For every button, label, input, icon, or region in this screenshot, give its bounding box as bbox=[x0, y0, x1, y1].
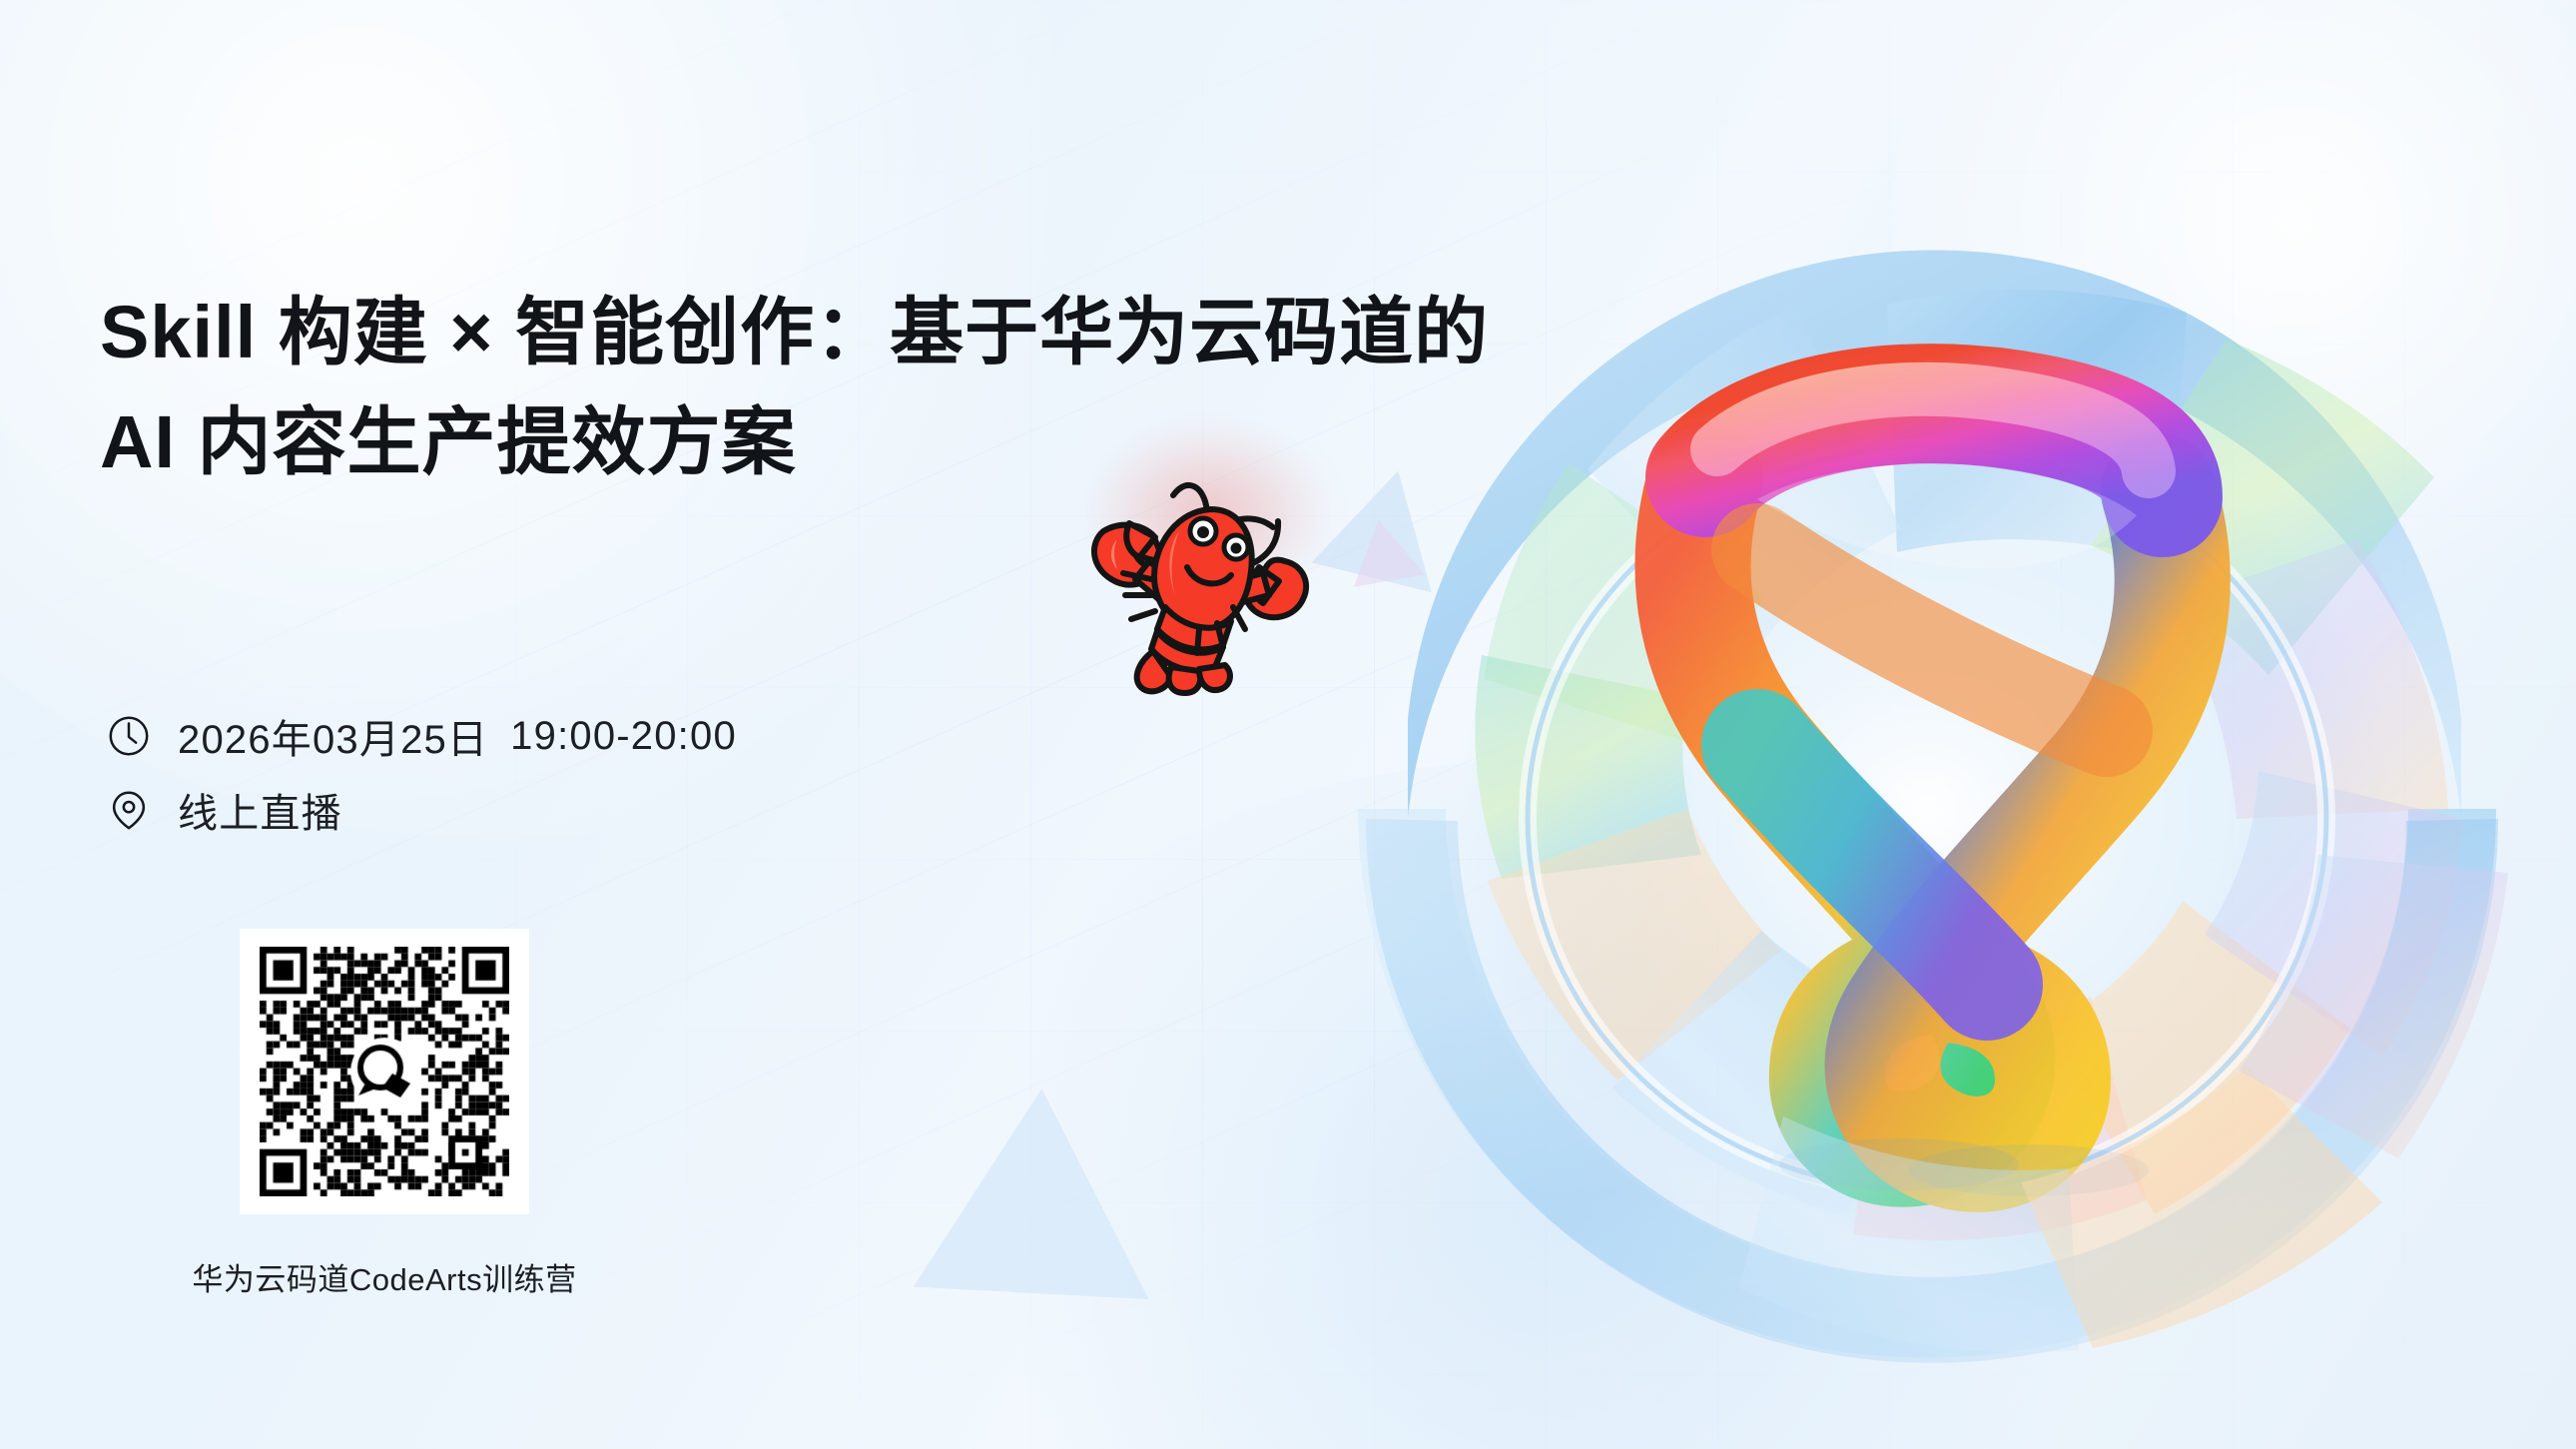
page-title: Skill 构建 × 智能创作：基于华为云码道的 AI 内容生产提效方案 bbox=[100, 278, 1218, 496]
promo-banner: Skill 构建 × 智能创作：基于华为云码道的 AI 内容生产提效方案 202… bbox=[0, 0, 2576, 1449]
qr-code[interactable] bbox=[240, 929, 529, 1214]
event-meta: 2026年03月25日 19:00-20:00 线上直播 bbox=[106, 699, 1004, 847]
event-time: 19:00-20:00 bbox=[510, 714, 737, 759]
title-line-1: Skill 构建 × 智能创作：基于华为云码道的 bbox=[100, 278, 1218, 387]
clock-icon bbox=[106, 713, 152, 759]
event-venue-row: 线上直播 bbox=[106, 773, 1004, 847]
qr-code-canvas[interactable] bbox=[260, 947, 509, 1196]
event-venue: 线上直播 bbox=[178, 781, 342, 839]
event-datetime-row: 2026年03月25日 19:00-20:00 bbox=[106, 699, 1004, 773]
lobster-icon bbox=[1073, 439, 1343, 699]
title-line-2: AI 内容生产提效方案 bbox=[100, 387, 1218, 497]
event-date: 2026年03月25日 bbox=[178, 707, 488, 765]
location-pin-icon bbox=[106, 787, 152, 833]
content-column: Skill 构建 × 智能创作：基于华为云码道的 AI 内容生产提效方案 202… bbox=[100, 0, 1278, 1449]
qr-caption: 华为云码道CodeArts训练营 bbox=[100, 1254, 669, 1299]
